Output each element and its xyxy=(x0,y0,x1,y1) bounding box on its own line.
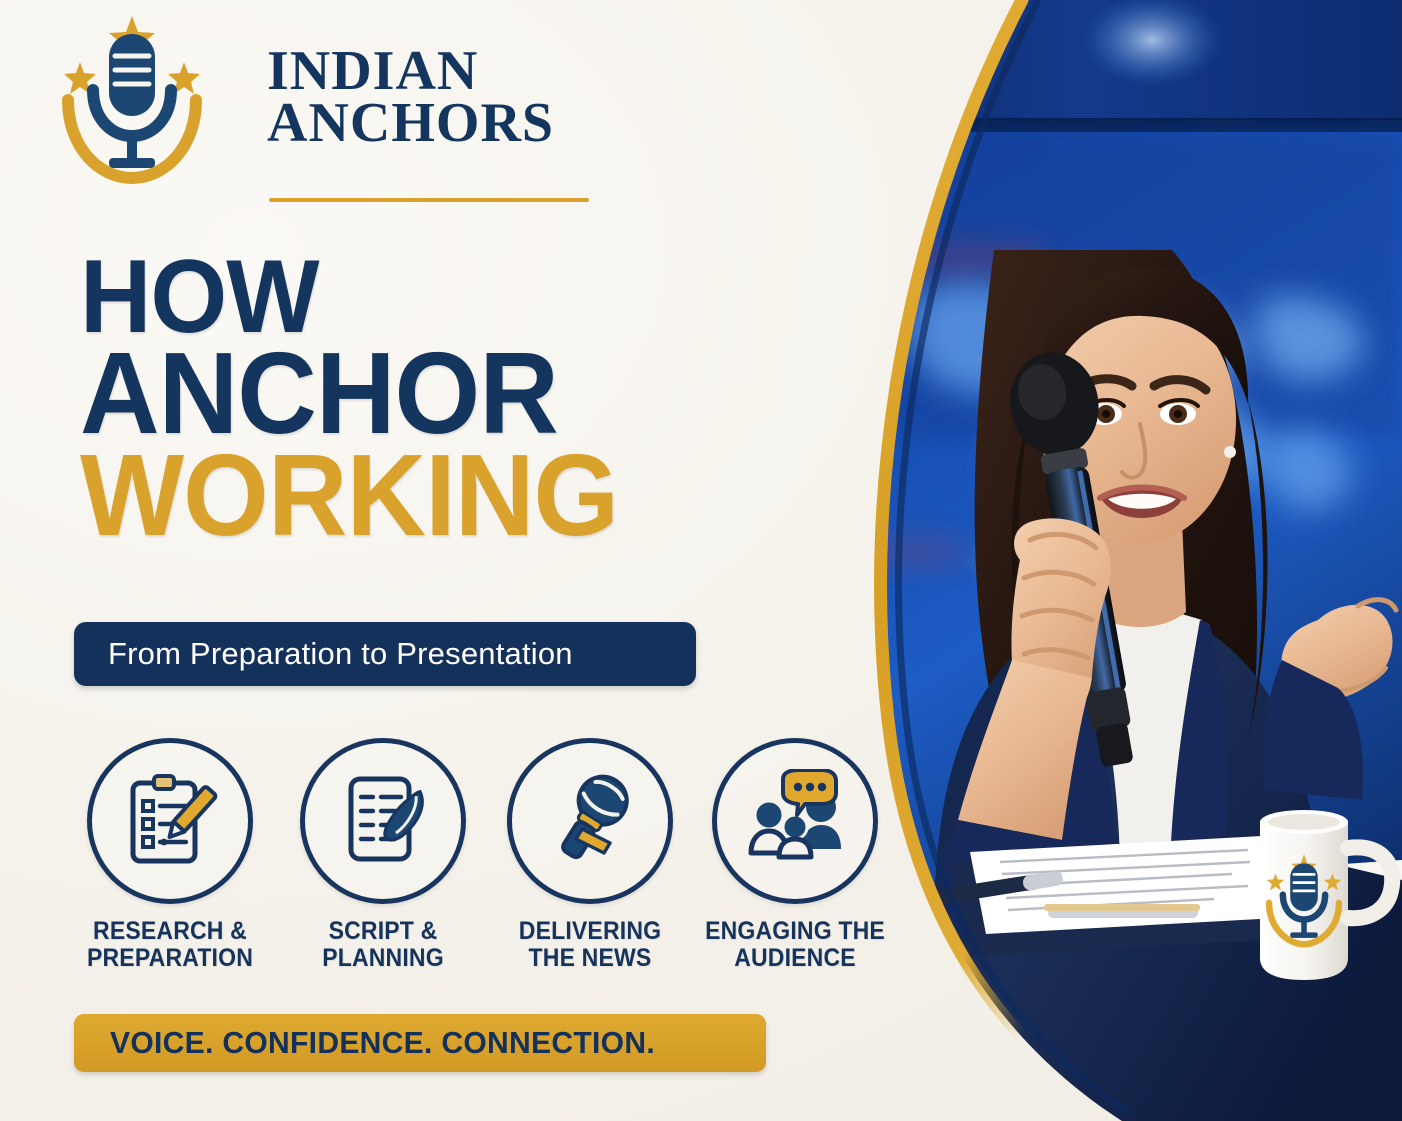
brand-logo: INDIAN ANCHORS xyxy=(62,8,562,218)
step-label-line1: RESEARCH & xyxy=(78,918,262,945)
step-research-preparation: RESEARCH & PREPARATION xyxy=(70,738,270,971)
page-title: HOW ANCHOR WORKING xyxy=(80,250,730,549)
poster-canvas: INDIAN ANCHORS HOW ANCHOR WORKING From P… xyxy=(0,0,1402,1121)
clipboard-checklist-pencil-icon xyxy=(118,769,222,873)
microphone-star-logo-icon xyxy=(62,12,202,197)
step-label-line1: DELIVERING xyxy=(498,918,682,945)
subtitle-banner: From Preparation to Presentation xyxy=(74,622,696,686)
tagline-text: VOICE. CONFIDENCE. CONNECTION. xyxy=(110,1025,655,1061)
step-engaging-audience: ENGAGING THE AUDIENCE xyxy=(695,738,895,971)
document-pen-icon xyxy=(331,769,435,873)
brand-name-line1: INDIAN xyxy=(267,46,607,98)
process-steps: RESEARCH & PREPARATION xyxy=(70,738,920,958)
handheld-microphone-icon xyxy=(538,769,642,873)
step-label-line1: SCRIPT & xyxy=(291,918,475,945)
step-label: ENGAGING THE AUDIENCE xyxy=(703,918,887,971)
step-label-line2: PLANNING xyxy=(291,945,475,972)
step-label-line2: PREPARATION xyxy=(78,945,262,972)
step-label-line2: AUDIENCE xyxy=(703,945,887,972)
step-icon-circle xyxy=(87,738,253,904)
headline-line-working: WORKING xyxy=(80,442,698,549)
step-icon-circle xyxy=(507,738,673,904)
step-icon-circle xyxy=(712,738,878,904)
tagline-banner: VOICE. CONFIDENCE. CONNECTION. xyxy=(74,1014,766,1072)
subtitle-text: From Preparation to Presentation xyxy=(108,636,573,672)
brand-name-line2: ANCHORS xyxy=(267,98,607,150)
step-label: RESEARCH & PREPARATION xyxy=(78,918,262,971)
step-delivering-news: DELIVERING THE NEWS xyxy=(490,738,690,971)
step-label: DELIVERING THE NEWS xyxy=(498,918,682,971)
brand-underline-rule xyxy=(269,198,589,202)
brand-logo-text: INDIAN ANCHORS xyxy=(267,46,607,149)
step-label-line2: THE NEWS xyxy=(498,945,682,972)
step-label: SCRIPT & PLANNING xyxy=(291,918,475,971)
step-script-planning: SCRIPT & PLANNING xyxy=(283,738,483,971)
step-label-line1: ENGAGING THE xyxy=(703,918,887,945)
step-icon-circle xyxy=(300,738,466,904)
audience-speech-bubble-icon xyxy=(743,769,847,873)
